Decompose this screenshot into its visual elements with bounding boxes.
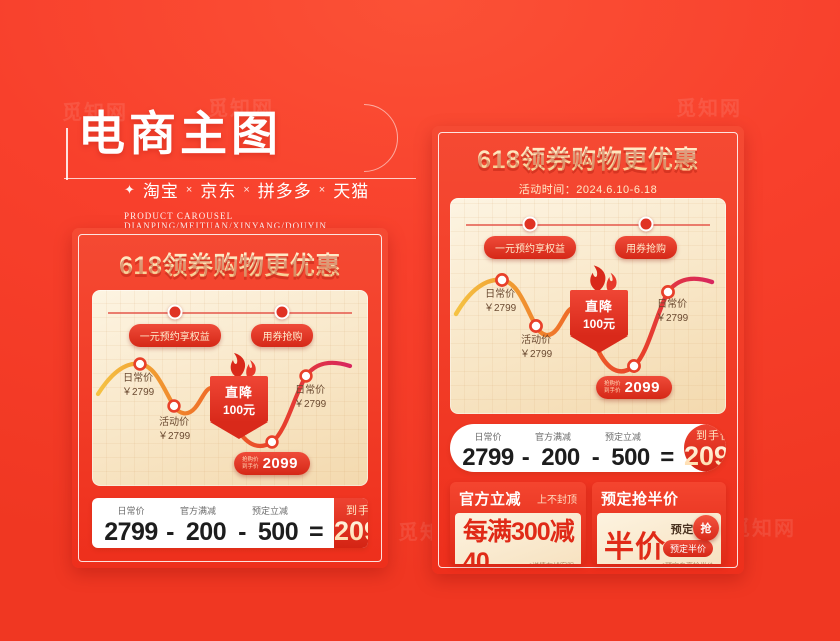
curve-tag-captions: 抢购价 到手价 [242, 457, 259, 471]
timeline-pill-2[interactable]: 用券抢购 [251, 324, 313, 347]
calc-num-discount-2: 500 [603, 444, 658, 472]
chart-label-event-name: 活动价 [158, 416, 190, 430]
calc-caption-official: 官方满减 [162, 504, 234, 517]
timeline-pill-1[interactable]: 一元预约享权益 [484, 236, 576, 259]
chart-panel-right: 一元预约享权益 用券抢购 [450, 198, 726, 414]
card-left-header: 618领券购物更优惠 [72, 246, 388, 282]
calc-caption-daily: 日常价 [458, 430, 518, 443]
calc-caption-preorder: 预定立减 [588, 430, 658, 443]
headline: 618领券购物更优惠 [72, 246, 388, 282]
poster-card-right: 618领券购物更优惠 活动时间：2024.6.10-6.18 一元预约享权益 用… [432, 126, 744, 574]
card-right-header: 618领券购物更优惠 活动时间：2024.6.10-6.18 [432, 140, 744, 197]
separator-icon: × [319, 184, 326, 196]
event-time: 活动时间：2024.6.10-6.18 [432, 181, 744, 197]
price-drop-badge: 直降 100元 [568, 264, 630, 353]
chart-label-event-value: ￥2799 [520, 348, 552, 362]
chart-label-daily-1-value: ￥2799 [122, 386, 154, 400]
curve-final-price-tag: 抢购价 到手价 2099 [234, 452, 310, 475]
curve-tag-captions: 抢购价 到手价 [604, 381, 621, 395]
calc-numbers: 2799 - 200 - 500 = [100, 518, 326, 547]
page-background: 觅知网 觅知网 觅知网 觅知网 觅知网 觅知网 觅知网 觅知网 电商主图 ✦ 淘… [0, 0, 840, 641]
calc-op-minus-2: - [234, 518, 250, 547]
chart-point-daily-2[interactable] [301, 371, 312, 382]
curve-tag-value: 2099 [625, 379, 660, 396]
timeline-dot-2[interactable] [275, 305, 290, 320]
chart-label-daily-2-name: 日常价 [656, 298, 688, 312]
curve-tag-caption-2: 到手价 [242, 464, 259, 471]
separator-icon: × [186, 184, 193, 196]
calc-captions: 日常价 官方满减 预定立减 [100, 504, 326, 517]
final-price-value: 2099 [334, 518, 368, 545]
promo-header: 官方立减 上不封顶 [450, 482, 586, 513]
chart-point-daily-2[interactable] [662, 286, 673, 297]
arrow-tip [570, 336, 628, 353]
calc-num-base: 2799 [458, 444, 518, 472]
calc-caption-preorder: 预定立减 [234, 504, 306, 517]
platform-row: ✦ 淘宝 × 京东 × 拼多多 × 天猫 [78, 177, 428, 202]
poster-card-left: 618领券购物更优惠 一元预约享权益 用券抢购 [72, 228, 388, 568]
chart-label-daily-1-name: 日常价 [484, 288, 516, 302]
chart-point-daily-1[interactable] [135, 359, 146, 370]
calc-formula: 日常价 官方满减 预定立减 2799 - 200 - 500 = [450, 424, 684, 472]
promo-note: *预定专享抢半价 [662, 561, 714, 564]
chart-label-daily-2-value: ￥2799 [294, 398, 326, 412]
calc-caption-daily: 日常价 [100, 504, 162, 517]
promo-title: 官方立减 [459, 488, 521, 509]
curve-final-price-tag: 抢购价 到手价 2099 [596, 376, 672, 399]
timeline-track [466, 224, 710, 226]
promo-subtitle: 上不封顶 [537, 491, 577, 506]
platform-taobao: 淘宝 [143, 177, 179, 202]
title-vertical-rule [66, 128, 68, 180]
calc-num-base: 2799 [100, 518, 162, 547]
calc-op-minus-2: - [588, 444, 603, 472]
curve-tag-caption-1: 抢购价 [604, 381, 621, 388]
timeline-track [108, 312, 352, 314]
chart-label-daily-1: 日常价 ￥2799 [122, 372, 154, 399]
calc-num-discount-1: 200 [178, 518, 234, 547]
calc-caption-official: 官方满减 [518, 430, 588, 443]
headline: 618领券购物更优惠 [432, 140, 744, 176]
promo-big-text: 每满300减40 [455, 512, 581, 565]
chart-point-event[interactable] [169, 401, 180, 412]
promo-body: 半价 预定享 预定半价 抢 *预定专享抢半价 [597, 513, 721, 564]
chart-label-daily-2-name: 日常价 [294, 384, 326, 398]
calc-op-equals: = [658, 444, 676, 472]
promo-header: 预定抢半价 [592, 482, 726, 513]
promo-big-text: 半价 [597, 522, 666, 564]
curve-tag-value: 2099 [263, 455, 298, 472]
drop-badge-line1: 直降 [570, 296, 628, 315]
chart-label-daily-1: 日常价 ￥2799 [484, 288, 516, 315]
timeline-dot-1[interactable] [167, 305, 182, 320]
drop-badge-line2: 100元 [210, 401, 268, 418]
chart-label-event: 活动价 ￥2799 [520, 334, 552, 361]
calc-captions: 日常价 官方满减 预定立减 [458, 430, 676, 443]
drop-badge-line2: 100元 [570, 315, 628, 332]
grab-badge-icon[interactable]: 抢 [693, 515, 719, 541]
platform-pdd: 拼多多 [258, 177, 312, 202]
chart-label-daily-1-name: 日常价 [122, 372, 154, 386]
separator-icon: × [243, 184, 250, 196]
calc-op-minus-1: - [518, 444, 533, 472]
promo-side-block: 预定享 预定半价 抢 [663, 521, 713, 557]
calc-op-minus-1: - [162, 518, 178, 547]
promo-card-half-price[interactable]: 预定抢半价 半价 预定享 预定半价 抢 *预定专享抢半价 [592, 482, 726, 564]
chart-point-final[interactable] [628, 360, 639, 371]
watermark: 觅知网 [676, 92, 742, 121]
chart-point-event[interactable] [530, 320, 541, 331]
chart-label-daily-2-value: ￥2799 [656, 312, 688, 326]
platform-tmall: 天猫 [333, 177, 369, 202]
price-calc-bar-left: 日常价 官方满减 预定立减 2799 - 200 - 500 = 到手价 209… [92, 498, 368, 548]
timeline-pill-1[interactable]: 一元预约享权益 [129, 324, 221, 347]
down-arrow-shape: 直降 100元 [210, 376, 268, 439]
chart-label-event-value: ￥2799 [158, 430, 190, 444]
promo-body: 每满300减40 *详情在线客服 [455, 513, 581, 564]
chart-label-event-name: 活动价 [520, 334, 552, 348]
flame-icon [219, 352, 259, 378]
timeline-dot-2[interactable] [638, 217, 653, 232]
price-calc-bar-right: 日常价 官方满减 预定立减 2799 - 200 - 500 = 到手价 209… [450, 424, 726, 472]
calc-formula: 日常价 官方满减 预定立减 2799 - 200 - 500 = [92, 498, 334, 548]
promo-card-official-discount[interactable]: 官方立减 上不封顶 每满300减40 *详情在线客服 [450, 482, 586, 564]
sparkle-icon: ✦ [124, 182, 136, 198]
title-divider [64, 178, 416, 179]
timeline-dot-1[interactable] [523, 217, 538, 232]
promo-side-pill: 预定半价 [663, 540, 713, 557]
drop-badge-line1: 直降 [210, 382, 268, 401]
promo-title: 预定抢半价 [601, 488, 679, 509]
curve-tag-caption-1: 抢购价 [242, 457, 259, 464]
chart-label-daily-2: 日常价 ￥2799 [656, 298, 688, 325]
arrow-tip [210, 422, 268, 439]
chart-panel-left: 一元预约享权益 用券抢购 [92, 290, 368, 486]
calc-num-discount-2: 500 [250, 518, 306, 547]
flame-icon [578, 264, 620, 292]
final-price-block-left[interactable]: 到手价 2099 [334, 498, 368, 548]
curve-tag-caption-2: 到手价 [604, 388, 621, 395]
chart-label-event: 活动价 ￥2799 [158, 416, 190, 443]
down-arrow-shape: 直降 100元 [570, 290, 628, 353]
calc-numbers: 2799 - 200 - 500 = [458, 444, 676, 472]
timeline-pill-2[interactable]: 用券抢购 [615, 236, 677, 259]
final-price-block-right[interactable]: 到手价 2099 [684, 424, 726, 472]
final-price-value: 2099 [684, 443, 726, 470]
chart-label-daily-2: 日常价 ￥2799 [294, 384, 326, 411]
calc-num-discount-1: 200 [533, 444, 588, 472]
promo-note: *详情在线客服 [529, 561, 574, 564]
price-drop-badge: 直降 100元 [208, 352, 270, 439]
calc-op-equals: = [306, 518, 326, 547]
chart-label-daily-1-value: ￥2799 [484, 302, 516, 316]
platform-jd: 京东 [200, 177, 236, 202]
chart-point-daily-1[interactable] [496, 274, 507, 285]
